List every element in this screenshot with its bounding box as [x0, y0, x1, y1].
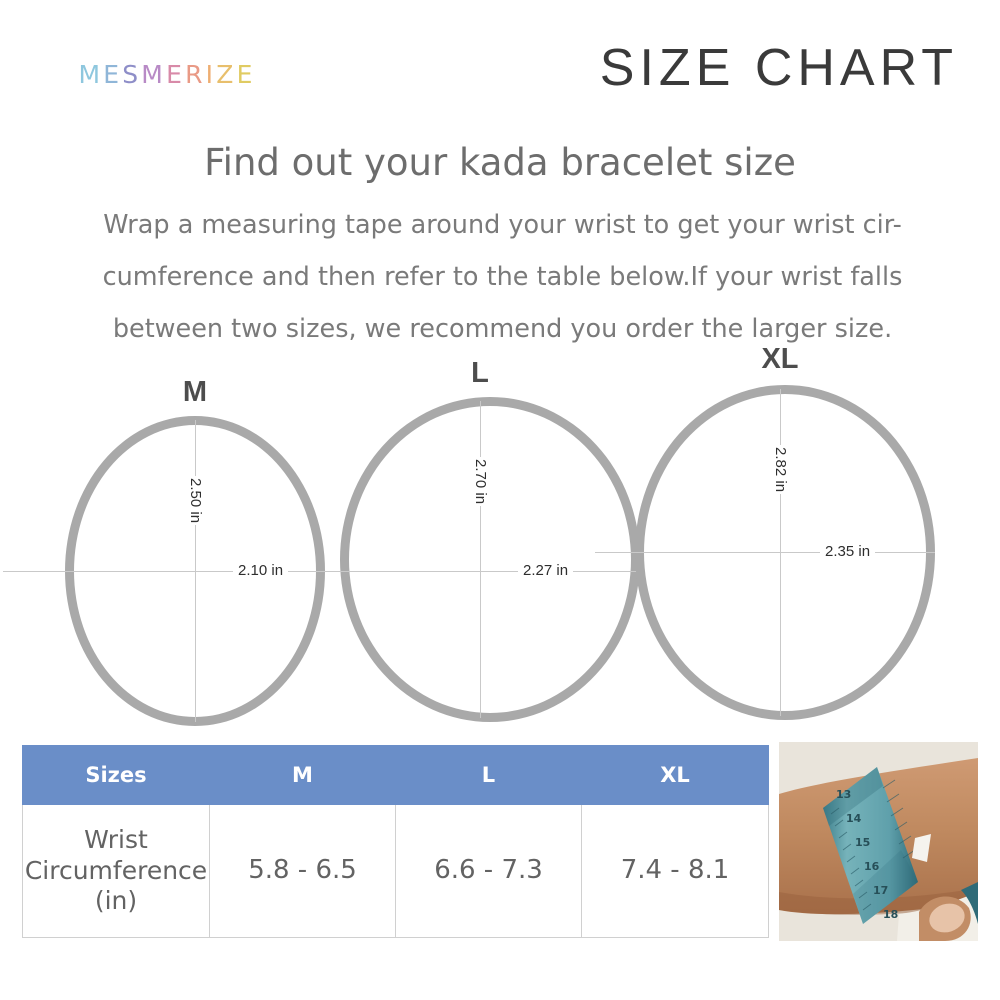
- table-header-xl: XL: [582, 746, 769, 805]
- table-row: Wrist Circumference (in) 5.8 - 6.5 6.6 -…: [23, 805, 769, 938]
- wrist-photo-illustration: 13 14 15 16 17 18: [779, 742, 978, 941]
- oval-label-l: L: [471, 359, 489, 388]
- cell-wrist-circumference-xl: 7.4 - 8.1: [582, 805, 769, 938]
- table-header-row: Sizes M L XL: [23, 746, 769, 805]
- cell-wrist-circumference-l: 6.6 - 7.3: [396, 805, 582, 938]
- table-header-sizes: Sizes: [23, 746, 210, 805]
- intro-heading: Find out your kada bracelet size: [0, 143, 1000, 184]
- oval-height-label-l: 2.70 in: [473, 457, 488, 506]
- oval-vertical-axis-l: [480, 401, 481, 718]
- oval-horizontal-axis-xl: [595, 552, 935, 553]
- size-table: Sizes M L XL Wrist Circumference (in) 5.…: [22, 745, 769, 938]
- tape-number: 14: [846, 812, 862, 825]
- row-label-line: Wrist: [24, 825, 208, 856]
- table-header-m: M: [210, 746, 396, 805]
- brand-logo-letter: I: [206, 60, 217, 89]
- size-ovals-diagram: M 2.50 in 2.10 in L 2.70 in 2.27 in XL 2…: [0, 340, 1000, 740]
- oval-group-m: M 2.50 in 2.10 in: [65, 416, 325, 726]
- brand-logo: MESMERIZE: [48, 50, 286, 98]
- table-header-l: L: [396, 746, 582, 805]
- row-label-wrist-circumference: Wrist Circumference (in): [23, 805, 210, 938]
- row-label-line: Circumference: [24, 856, 208, 887]
- brand-logo-letter: E: [166, 60, 185, 89]
- oval-height-label-xl: 2.82 in: [773, 445, 788, 494]
- brand-logo-letter: Z: [216, 60, 236, 89]
- oval-width-label-m: 2.10 in: [233, 563, 288, 578]
- brand-logo-letter: E: [237, 60, 256, 89]
- brand-logo-letter: E: [103, 60, 122, 89]
- oval-height-label-m: 2.50 in: [188, 476, 203, 525]
- oval-label-m: M: [183, 378, 207, 407]
- brand-logo-letter: M: [141, 60, 166, 89]
- intro-paragraph: Wrap a measuring tape around your wrist …: [50, 199, 955, 355]
- tape-number: 13: [836, 788, 851, 801]
- tape-number: 18: [883, 908, 898, 921]
- oval-width-label-l: 2.27 in: [518, 563, 573, 578]
- oval-label-xl: XL: [761, 345, 798, 374]
- oval-horizontal-axis-l: [292, 571, 642, 572]
- brand-logo-letter: R: [185, 60, 206, 89]
- brand-logo-letter: S: [122, 60, 141, 89]
- oval-group-l: L 2.70 in 2.27 in: [340, 397, 640, 722]
- brand-logo-letter: M: [78, 60, 103, 89]
- oval-width-label-xl: 2.35 in: [820, 544, 875, 559]
- tape-number: 17: [873, 884, 888, 897]
- page-title: SIZE CHART: [600, 42, 958, 94]
- oval-group-xl: XL 2.82 in 2.35 in: [635, 385, 935, 720]
- wrist-measurement-photo: 13 14 15 16 17 18: [779, 742, 978, 941]
- tape-number: 16: [864, 860, 880, 873]
- tape-number: 15: [855, 836, 870, 849]
- brand-logo-text: MESMERIZE: [78, 60, 255, 89]
- cell-wrist-circumference-m: 5.8 - 6.5: [210, 805, 396, 938]
- oval-ring-l: [340, 397, 640, 722]
- row-label-line: (in): [24, 886, 208, 917]
- intro-line: cumference and then refer to the table b…: [50, 251, 955, 303]
- intro-line: Wrap a measuring tape around your wrist …: [50, 199, 955, 251]
